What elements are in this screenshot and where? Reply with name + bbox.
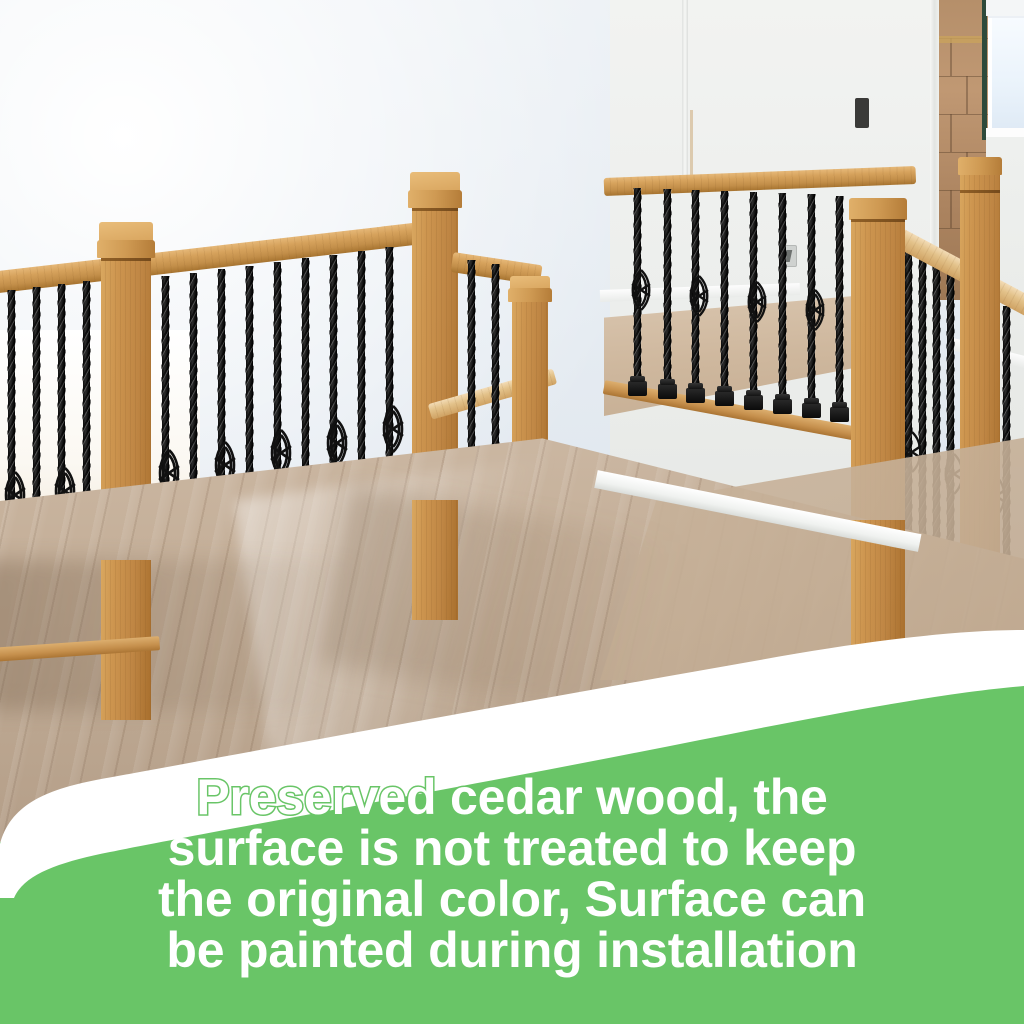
iron-baluster — [664, 189, 671, 389]
post-cap — [849, 198, 907, 220]
baluster-basket-detail — [742, 280, 772, 324]
baluster-shoe — [802, 403, 821, 418]
window-header — [986, 0, 1024, 16]
caption-line-1: Preserved cedar wood, the — [0, 772, 1024, 823]
baluster-shoe — [628, 381, 647, 396]
post-cap-center — [408, 190, 462, 208]
baluster-basket-detail — [322, 418, 352, 462]
newel-post-center-base — [412, 500, 458, 620]
baluster-basket-detail — [800, 288, 830, 332]
iron-baluster — [779, 193, 786, 404]
caption-line-4: be painted during installation — [0, 925, 1024, 976]
window-sill — [986, 128, 1024, 137]
baluster-shoe — [658, 384, 677, 399]
baluster-basket-detail — [684, 274, 714, 318]
iron-baluster — [721, 191, 728, 396]
post-cap-seam-left — [101, 258, 151, 261]
window — [988, 18, 1024, 130]
wall-seam — [682, 0, 688, 190]
product-image: Preserved cedar wood, the surface is not… — [0, 0, 1024, 1024]
wall-outlet — [855, 98, 869, 128]
promo-caption: Preserved cedar wood, the surface is not… — [0, 772, 1024, 976]
post-cap-left — [97, 240, 155, 258]
post-cap-seam-center — [412, 208, 458, 211]
post-cap-far — [958, 157, 1002, 175]
baluster-shoe — [744, 395, 763, 410]
baluster-basket-detail — [266, 428, 296, 472]
caption-line-3: the original color, Surface can — [0, 874, 1024, 925]
baluster-shoe — [715, 391, 734, 406]
post-cap-seam — [851, 219, 905, 222]
caption-line-2: surface is not treated to keep — [0, 823, 1024, 874]
post-cap-seam-far — [960, 190, 1000, 193]
baluster-basket-detail — [626, 268, 656, 312]
baluster-shoe — [686, 388, 705, 403]
door-edge — [982, 0, 987, 140]
baluster-shoe — [830, 407, 849, 422]
baluster-shoe — [773, 399, 792, 414]
iron-baluster — [836, 196, 843, 412]
baluster-basket-detail — [378, 404, 408, 448]
post-cap-small — [508, 288, 552, 302]
